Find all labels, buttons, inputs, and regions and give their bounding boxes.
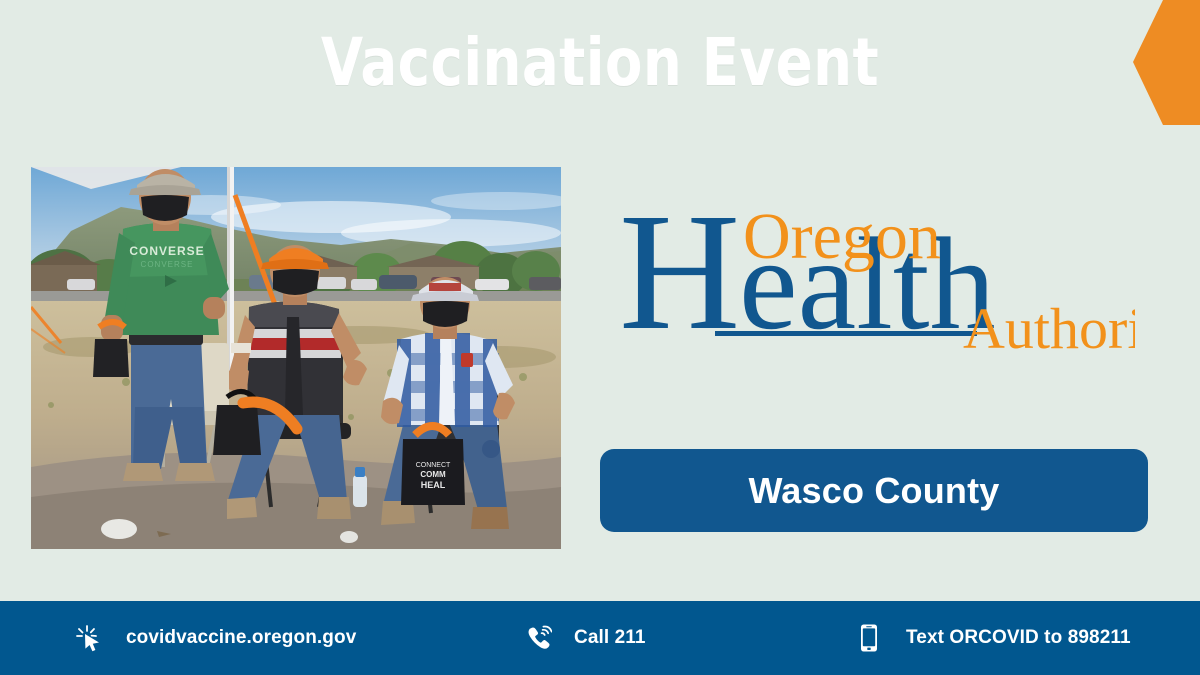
svg-text:CONVERSE: CONVERSE — [129, 244, 204, 258]
mobile-phone-icon — [852, 621, 886, 655]
svg-text:CONVERSE: CONVERSE — [141, 260, 194, 269]
footer-text-label: Text ORCOVID to 898211 — [906, 627, 1131, 649]
logo-oregon-text: Oregon — [743, 200, 941, 273]
svg-text:CONNECT: CONNECT — [416, 462, 451, 469]
footer-item-website[interactable]: covidvaccine.oregon.gov — [72, 601, 356, 675]
footer-bar: covidvaccine.oregon.gov Call 211 — [0, 601, 1200, 675]
footer-item-call[interactable]: Call 211 — [520, 601, 646, 675]
footer-call-label: Call 211 — [574, 627, 646, 649]
event-photo: CONVERSE CONVERSE — [31, 167, 561, 549]
oregon-health-authority-logo: H ealth Oregon Authority — [615, 196, 1135, 401]
page-title: Vaccination Event — [48, 0, 1152, 125]
logo-health-text: H — [619, 196, 740, 365]
cursor-click-icon — [72, 621, 106, 655]
svg-text:HEAL: HEAL — [421, 480, 446, 490]
logo-authority-text: Authority — [963, 296, 1135, 361]
phone-ringing-icon — [520, 621, 554, 655]
logo-rule — [715, 331, 977, 336]
footer-item-text[interactable]: Text ORCOVID to 898211 — [852, 601, 1131, 675]
event-photo-illustration: CONVERSE CONVERSE — [31, 167, 561, 549]
vaccination-event-poster: Vaccination Event — [0, 0, 1200, 675]
svg-text:COMM: COMM — [420, 470, 446, 479]
county-button-label: Wasco County — [748, 470, 999, 512]
county-button[interactable]: Wasco County — [600, 449, 1148, 532]
footer-website-label: covidvaccine.oregon.gov — [126, 627, 356, 649]
